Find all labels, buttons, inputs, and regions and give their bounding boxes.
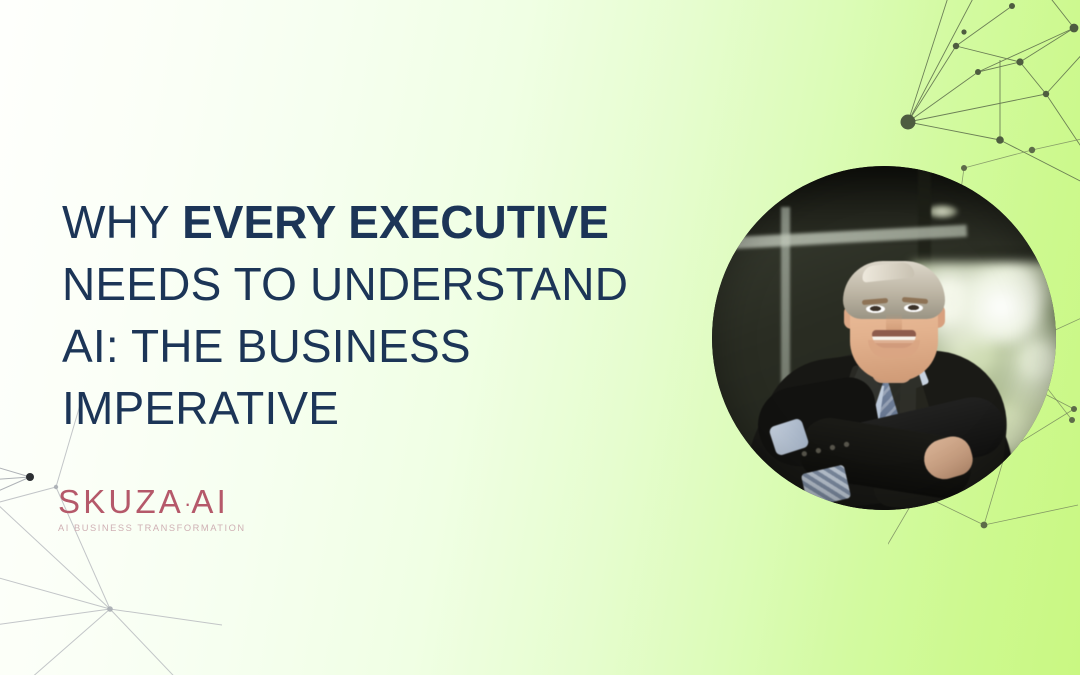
- photo-bg-sky-glare: [960, 269, 1043, 345]
- brand-logo-word-left: SKUZA: [58, 483, 184, 520]
- page-title: WHY EVERY EXECUTIVE NEEDS TO UNDERSTAND …: [62, 191, 702, 439]
- network-decoration-left-node: [0, 455, 56, 525]
- brand-logo-word-right: AI: [191, 483, 229, 520]
- brand-logo-wordmark: SKUZA·AI: [58, 485, 246, 518]
- brand-logo[interactable]: SKUZA·AI AI BUSINESS TRANSFORMATION: [58, 485, 246, 533]
- headline-line-3: AI: THE BUSINESS: [62, 320, 471, 372]
- portrait-photo: [712, 166, 1056, 510]
- headline-line-2: NEEDS TO UNDERSTAND: [62, 258, 628, 310]
- headline-line-4: IMPERATIVE: [62, 382, 339, 434]
- headline-line-1-bold: EVERY EXECUTIVE: [182, 196, 609, 248]
- headline-line-1-plain: WHY: [62, 196, 182, 248]
- brand-logo-tagline: AI BUSINESS TRANSFORMATION: [58, 523, 246, 533]
- blog-header-banner: WHY EVERY EXECUTIVE NEEDS TO UNDERSTAND …: [0, 0, 1080, 675]
- portrait-photo-content: [712, 166, 1056, 510]
- photo-subject-eye-left: [866, 305, 885, 313]
